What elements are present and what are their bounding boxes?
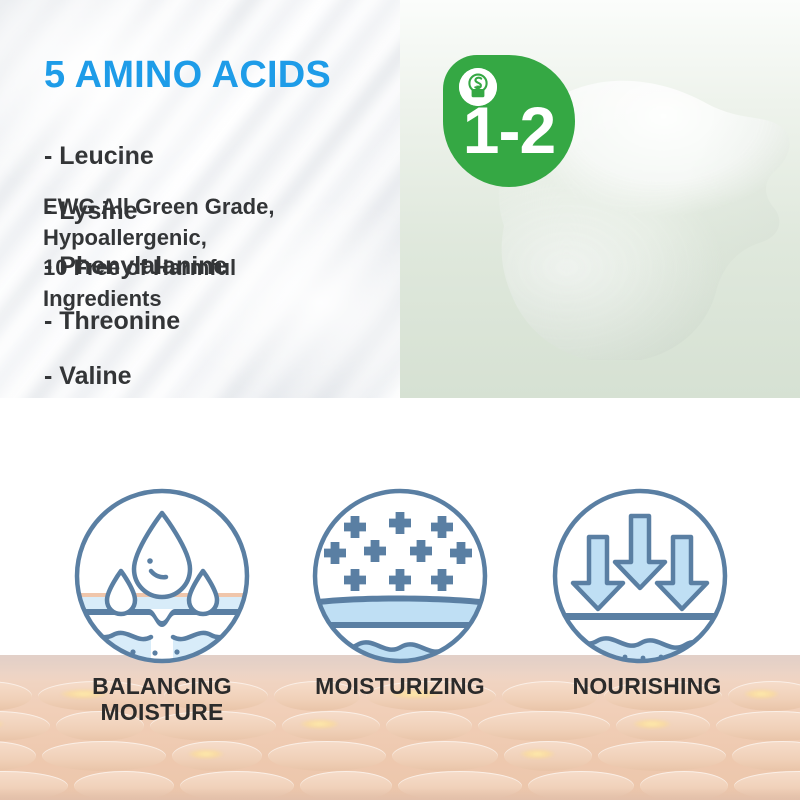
claim-line: 10 Free of Harmful xyxy=(43,253,274,284)
down-arrows-penetration-icon xyxy=(551,487,729,665)
benefits-section: BALANCING MOISTURE MOISTURIZING NOURISHI… xyxy=(0,398,800,800)
claim-line: Ingredients xyxy=(43,284,274,315)
claims-text: EWG All Green Grade, Hypoallergenic, 10 … xyxy=(43,192,274,314)
benefit-label-line: NOURISHING xyxy=(536,674,758,700)
infographic-page: 5 AMINO ACIDS - Leucine - Lysine - Pheny… xyxy=(0,0,800,800)
ewg-grade-value: 1-2 xyxy=(443,97,575,163)
top-section: 5 AMINO ACIDS - Leucine - Lysine - Pheny… xyxy=(0,0,800,398)
claim-line: Hypoallergenic, xyxy=(43,223,274,254)
benefit-label-balancing: BALANCING MOISTURE xyxy=(46,674,278,726)
status-badge: 1-2 xyxy=(443,55,575,187)
hydration-plus-particles-icon xyxy=(311,487,489,665)
water-droplet-absorption-icon xyxy=(73,487,251,665)
benefit-label-nourishing: NOURISHING xyxy=(536,674,758,700)
benefit-label-line: MOISTURE xyxy=(46,700,278,726)
claim-line: EWG All Green Grade, xyxy=(43,192,274,223)
benefit-label-line: BALANCING xyxy=(46,674,278,700)
list-item: - Leucine xyxy=(44,144,400,169)
benefit-label-moisturizing: MOISTURIZING xyxy=(290,674,510,700)
benefit-labels: BALANCING MOISTURE MOISTURIZING NOURISHI… xyxy=(0,674,800,744)
page-title: 5 AMINO ACIDS xyxy=(44,56,400,94)
benefit-label-line: MOISTURIZING xyxy=(290,674,510,700)
list-item: - Valine xyxy=(44,364,400,389)
